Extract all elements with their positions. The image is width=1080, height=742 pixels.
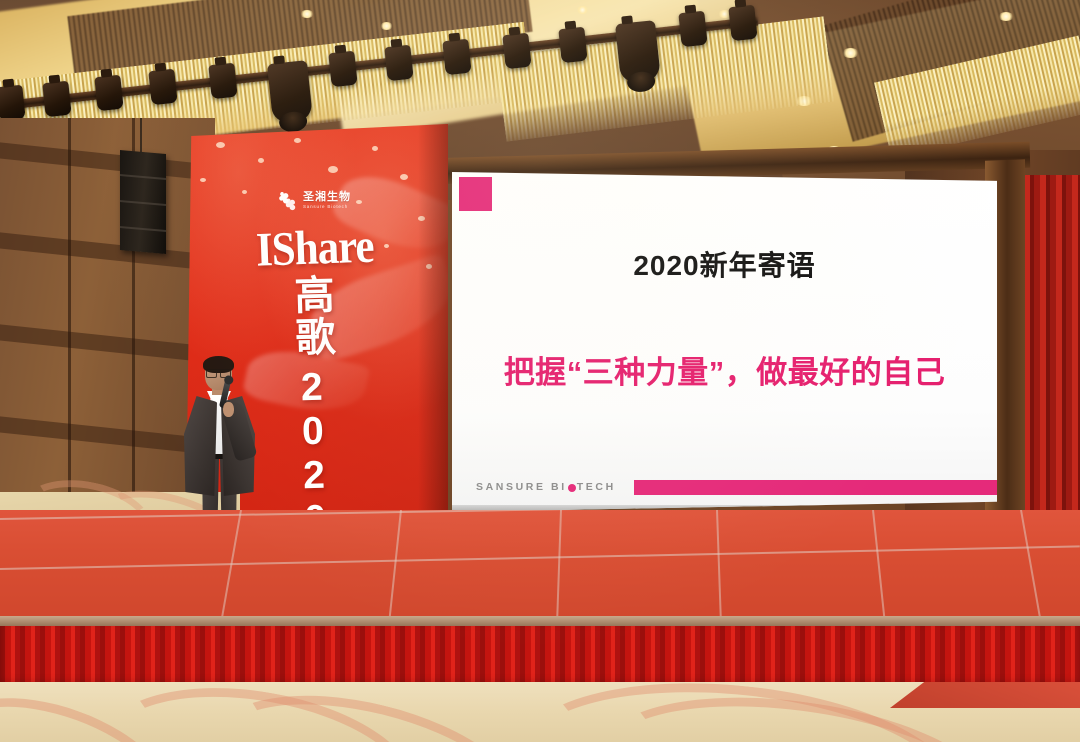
stage-light-icon bbox=[558, 27, 587, 64]
stage-light-icon bbox=[42, 81, 71, 118]
stage-panel-seams bbox=[0, 510, 1080, 630]
stage-platform bbox=[0, 510, 1080, 630]
banner-headline: IShare bbox=[255, 219, 374, 278]
downlight-icon bbox=[998, 12, 1014, 21]
footer-brand-suffix: TECH bbox=[577, 481, 616, 493]
slide-footer-brand: SANSURE BITECH bbox=[476, 481, 616, 493]
moving-head-light-icon bbox=[615, 20, 661, 84]
line-array-speaker bbox=[120, 150, 166, 254]
slide-footer-bar bbox=[634, 480, 997, 495]
carpet-red-section bbox=[890, 682, 1080, 708]
downlight-icon bbox=[380, 22, 393, 30]
stage-light-icon bbox=[208, 63, 237, 100]
stage-light-icon bbox=[442, 39, 471, 76]
stage-light-icon bbox=[328, 51, 357, 88]
slide-subtitle: 把握“三种力量”，做最好的自己 bbox=[452, 347, 997, 392]
projection-screen: 2020新年寄语 把握“三种力量”，做最好的自己 SANSURE BITECH bbox=[452, 172, 997, 512]
stage-light-icon bbox=[384, 45, 413, 82]
ballroom-carpet bbox=[0, 682, 1080, 742]
red-curtain-right bbox=[1018, 175, 1080, 545]
downlight-icon bbox=[842, 48, 859, 58]
logo-chinese-name: 圣湘生物 bbox=[303, 192, 351, 203]
stage-light-icon bbox=[148, 69, 177, 106]
presenter-jacket-left bbox=[184, 396, 217, 496]
stage-light-icon bbox=[728, 5, 757, 42]
stage-photo-scene: 圣湘生物 Sansure Biotech IShare 高歌 2020 2020… bbox=[0, 0, 1080, 742]
presenter-hand bbox=[223, 402, 234, 417]
stage-light-icon bbox=[94, 75, 123, 112]
slide-footer: SANSURE BITECH bbox=[452, 478, 997, 496]
stage-light-icon bbox=[678, 11, 707, 48]
downlight-icon bbox=[300, 10, 314, 18]
slide-accent-square bbox=[459, 177, 492, 211]
slide-title: 2020新年寄语 bbox=[452, 244, 997, 284]
brand-dot-icon bbox=[568, 484, 576, 492]
banner-vertical-text: 高歌 bbox=[289, 273, 333, 358]
banner-shadow-edge bbox=[418, 124, 448, 524]
company-logo: 圣湘生物 Sansure Biotech bbox=[276, 190, 351, 212]
footer-brand-prefix: SANSURE BI bbox=[476, 481, 567, 493]
stage-skirt bbox=[0, 626, 1080, 690]
stage-light-icon bbox=[0, 85, 26, 122]
downlight-icon bbox=[576, 6, 589, 14]
banner-vertical-year: 2020 bbox=[292, 366, 336, 524]
sansure-logo-mark-icon bbox=[276, 190, 298, 212]
moving-head-light-icon bbox=[267, 60, 313, 124]
stage-light-icon bbox=[502, 33, 531, 70]
logo-english-name: Sansure Biotech bbox=[303, 205, 351, 210]
